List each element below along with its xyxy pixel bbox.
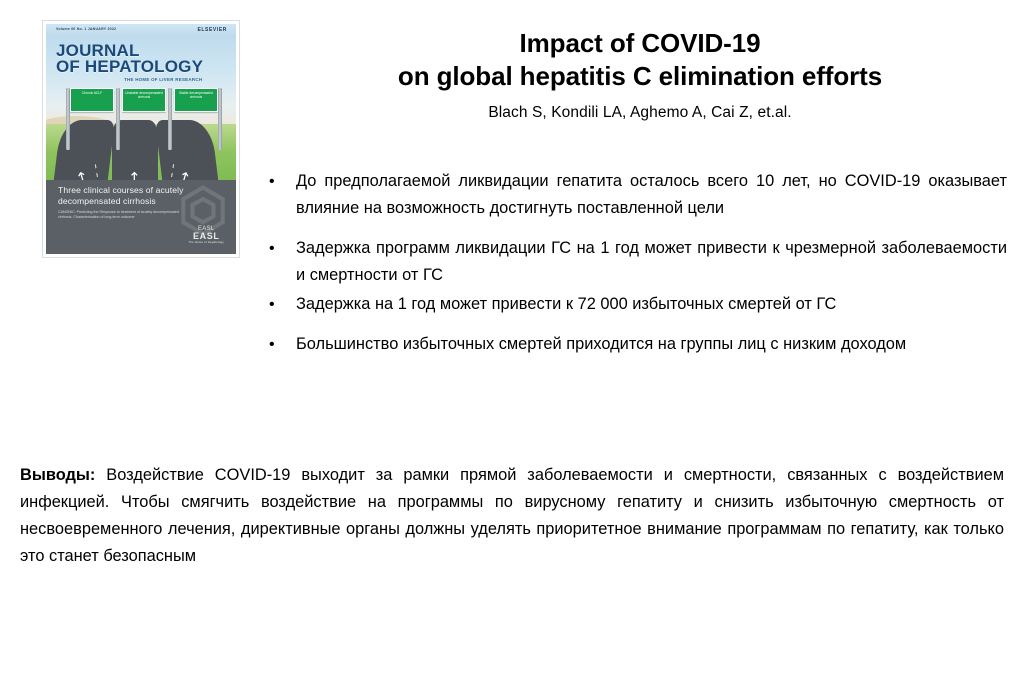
easl-logo-subtitle: The Home of Hepatology: [189, 241, 225, 244]
highway-sign-1: Chronic ACLF: [70, 88, 114, 112]
page-title-line2: on global hepatitis C elimination effort…: [398, 61, 882, 91]
highway-sign-2: Unstable decompensated cirrhosis: [122, 88, 166, 112]
cover-footer-panel: Three clinical courses of acutely decomp…: [46, 180, 236, 254]
list-item: • Задержка программ ликвидации ГС на 1 г…: [262, 235, 1007, 289]
list-item: • Большинство избыточных смертей приходи…: [262, 331, 1007, 358]
easl-logo: EASL EASL The Home of Hepatology: [189, 226, 225, 244]
sign-post-3: [168, 88, 172, 150]
conclusion-label: Выводы:: [20, 466, 95, 484]
cover-subtitle: THE HOME OF LIVER RESEARCH: [124, 77, 202, 82]
cover-footer-title: Three clinical courses of acutely decomp…: [58, 185, 228, 206]
highway-sign-3-label: Stable decompensated cirrhosis: [177, 91, 215, 109]
title-block: Impact of COVID-19 on global hepatitis C…: [270, 27, 1010, 123]
slide-canvas: Volume 00 No. 1 JANUARY 2022 ELSEVIER JO…: [0, 0, 1024, 683]
conclusion-paragraph: Выводы: Воздействие COVID-19 выходит за …: [20, 462, 1004, 570]
conclusion-text: Воздействие COVID-19 выходит за рамки пр…: [20, 466, 1004, 565]
journal-cover-artwork: Volume 00 No. 1 JANUARY 2022 ELSEVIER JO…: [46, 24, 236, 254]
list-item-text: Задержка программ ликвидации ГС на 1 год…: [296, 239, 1007, 284]
bullet-marker-icon: •: [269, 168, 275, 195]
page-title: Impact of COVID-19 on global hepatitis C…: [270, 27, 1010, 93]
list-item-text: До предполагаемой ликвидации гепатита ос…: [296, 172, 1007, 217]
sign-post-4: [218, 88, 222, 150]
page-title-line1: Impact of COVID-19: [520, 28, 761, 58]
bullet-marker-icon: •: [269, 331, 275, 358]
elsevier-logo: ELSEVIER: [197, 27, 227, 33]
cover-issn-line: Volume 00 No. 1 JANUARY 2022: [56, 27, 116, 31]
list-item-text: Большинство избыточных смертей приходитс…: [296, 335, 906, 353]
highway-sign-2-label: Unstable decompensated cirrhosis: [125, 91, 163, 109]
journal-cover-image: Volume 00 No. 1 JANUARY 2022 ELSEVIER JO…: [42, 20, 240, 258]
highway-sign-3: Stable decompensated cirrhosis: [174, 88, 218, 112]
highway-sign-1-label: Chronic ACLF: [73, 91, 111, 109]
list-item-text: Задержка на 1 год может привести к 72 00…: [296, 295, 836, 313]
authors-line: Blach S, Kondili LA, Aghemo A, Cai Z, et…: [270, 103, 1010, 123]
cover-title-line2: OF HEPATOLOGY: [56, 58, 203, 75]
bullet-list: • До предполагаемой ликвидации гепатита …: [262, 168, 1007, 358]
sign-post-2: [116, 88, 120, 150]
cover-footer-body: CANONIC: Predicting the Response to trea…: [58, 210, 190, 221]
list-item: • Задержка на 1 год может привести к 72 …: [262, 291, 1007, 318]
list-item: • До предполагаемой ликвидации гепатита …: [262, 168, 1007, 222]
bullet-marker-icon: •: [269, 291, 275, 318]
bullet-marker-icon: •: [269, 235, 275, 262]
